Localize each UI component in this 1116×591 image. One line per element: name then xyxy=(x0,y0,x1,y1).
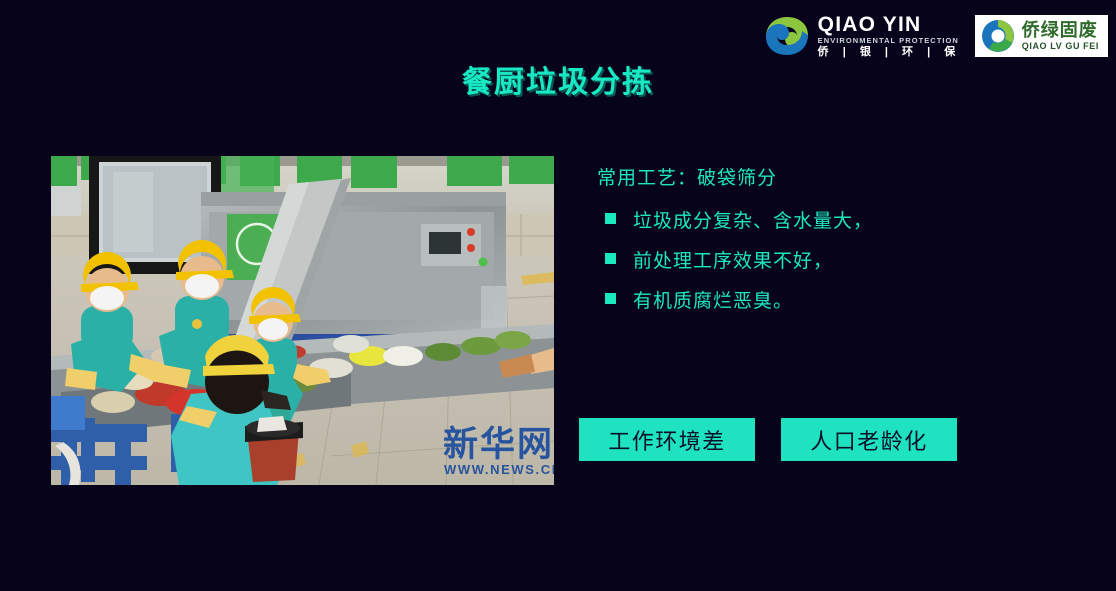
tag-work-environment: 工作环境差 xyxy=(579,418,755,461)
qiao-yin-subtitle: ENVIRONMENTAL PROTECTION xyxy=(818,37,961,45)
bullet-text: 垃圾成分复杂、含水量大， xyxy=(633,206,873,233)
qiao-lv-gu-fei-main-text: 侨绿固废 xyxy=(1022,21,1099,39)
photo-artwork: 新华网 WWW.NEWS.CN xyxy=(51,156,554,485)
list-item: 前处理工序效果不好， xyxy=(597,246,1077,273)
list-item: 有机质腐烂恶臭。 xyxy=(597,286,1077,313)
page-title: 餐厨垃圾分拣 xyxy=(0,57,1116,101)
logo-qiao-lv-gu-fei: 侨绿固废 QIAO LV GU FEI xyxy=(975,15,1108,57)
list-item: 垃圾成分复杂、含水量大， xyxy=(597,206,1077,233)
qiao-lv-gu-fei-mark-icon xyxy=(981,19,1015,53)
qiao-yin-chinese-text: 侨 | 银 | 环 | 保 xyxy=(818,47,961,58)
square-bullet-icon xyxy=(605,293,616,304)
svg-text:新华网: 新华网 xyxy=(443,425,554,464)
tag-population-aging: 人口老龄化 xyxy=(781,418,957,461)
square-bullet-icon xyxy=(605,253,616,264)
svg-text:WWW.NEWS.CN: WWW.NEWS.CN xyxy=(444,462,554,477)
qiao-yin-main-text: QIAO YIN xyxy=(818,14,961,35)
logo-bar: QIAO YIN ENVIRONMENTAL PROTECTION 侨 | 银 … xyxy=(760,12,1108,60)
qiao-lv-gu-fei-wordmark: 侨绿固废 QIAO LV GU FEI xyxy=(1022,21,1099,51)
process-lead-text: 常用工艺：破袋筛分 xyxy=(597,163,1077,190)
qiao-yin-mark-icon xyxy=(764,15,810,57)
qiao-yin-wordmark: QIAO YIN ENVIRONMENTAL PROTECTION 侨 | 银 … xyxy=(818,14,961,58)
bullet-text: 有机质腐烂恶臭。 xyxy=(633,286,793,313)
logo-qiao-yin: QIAO YIN ENVIRONMENTAL PROTECTION 侨 | 银 … xyxy=(760,12,965,60)
slide-root: QIAO YIN ENVIRONMENTAL PROTECTION 侨 | 银 … xyxy=(0,0,1116,591)
bullet-text: 前处理工序效果不好， xyxy=(633,246,833,273)
sorting-line-photo: 新华网 WWW.NEWS.CN xyxy=(51,156,554,485)
qiao-lv-gu-fei-subtitle: QIAO LV GU FEI xyxy=(1022,42,1099,51)
content-column: 常用工艺：破袋筛分 垃圾成分复杂、含水量大， 前处理工序效果不好， 有机质腐烂恶… xyxy=(597,163,1077,326)
issue-bullet-list: 垃圾成分复杂、含水量大， 前处理工序效果不好， 有机质腐烂恶臭。 xyxy=(597,206,1077,313)
square-bullet-icon xyxy=(605,213,616,224)
